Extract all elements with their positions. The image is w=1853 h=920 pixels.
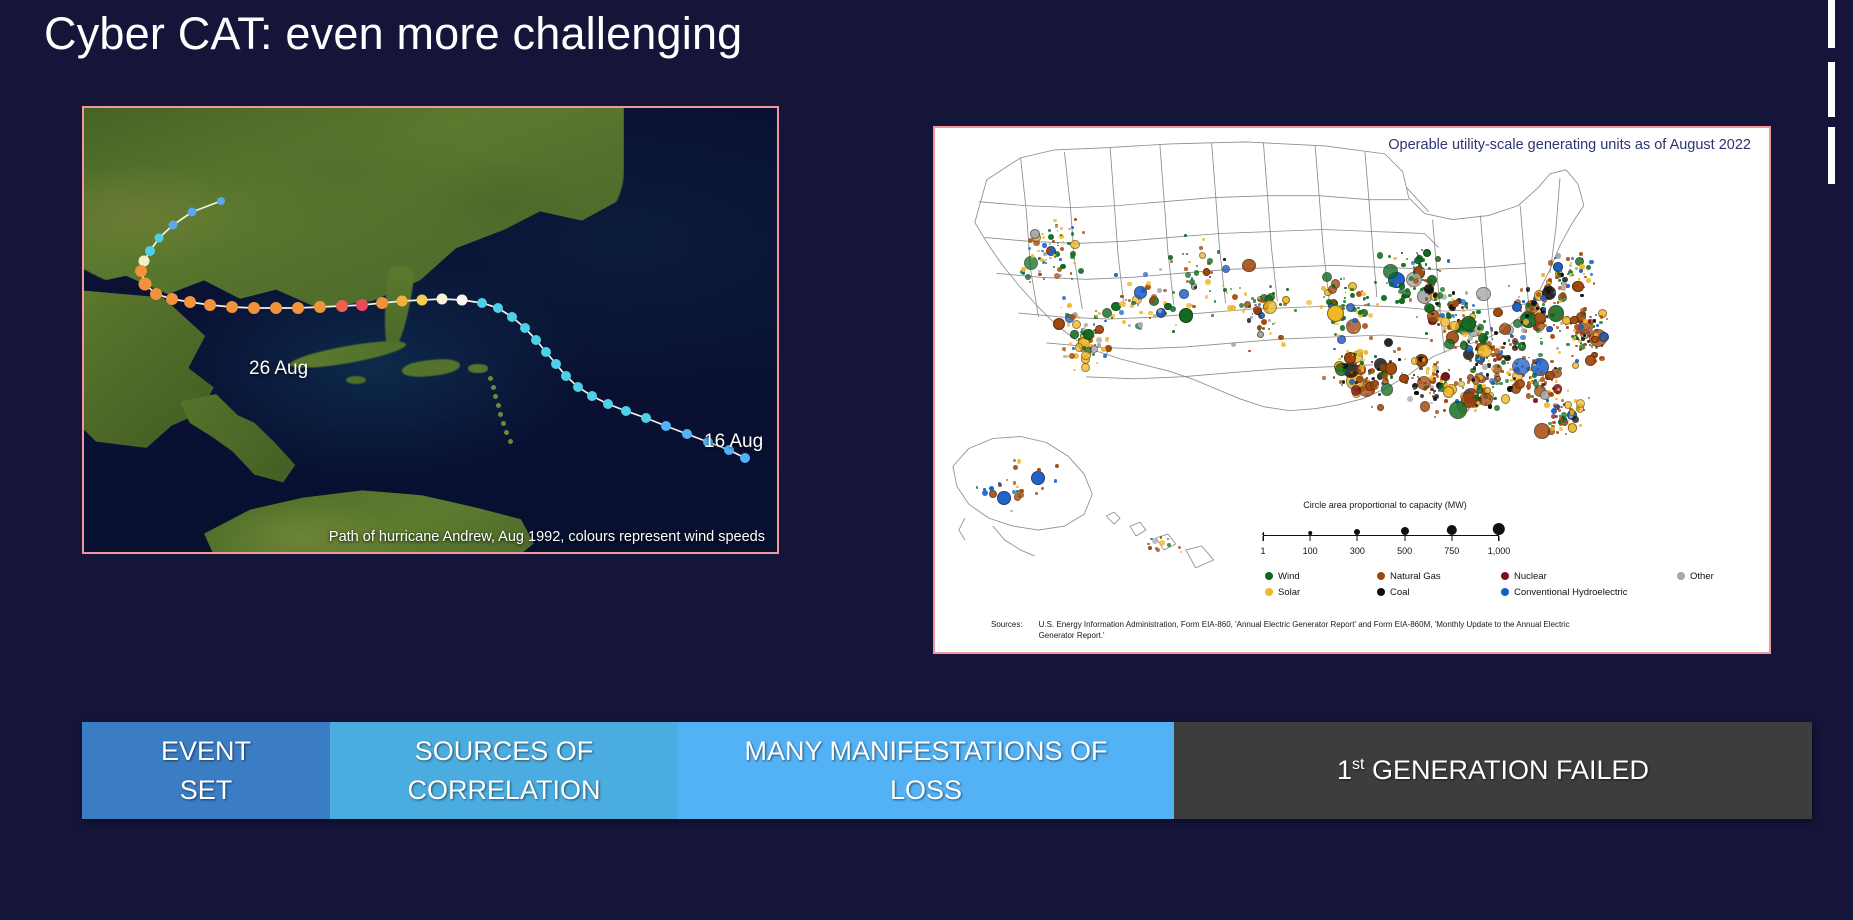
size-legend-dot <box>1493 523 1505 535</box>
generator-dot <box>1148 546 1152 550</box>
track-point <box>740 453 750 463</box>
generator-dot <box>1404 358 1406 360</box>
eia-generating-units-panel[interactable]: Operable utility-scale generating units … <box>933 126 1771 654</box>
generator-dot <box>1207 258 1213 264</box>
legend-swatch-icon <box>1265 572 1273 580</box>
generator-dot <box>1414 391 1419 396</box>
generator-dot <box>1230 288 1232 290</box>
banner-segment-2[interactable]: MANY MANIFESTATIONS OFLOSS <box>678 722 1174 819</box>
generator-dot <box>1482 364 1488 370</box>
banner-segment-3[interactable]: 1st GENERATION FAILED <box>1174 722 1812 819</box>
generator-dot <box>1179 289 1189 299</box>
generator-dot <box>1345 292 1347 294</box>
generator-dot <box>1355 330 1357 332</box>
generator-dot <box>1168 255 1173 260</box>
generator-dot <box>1260 299 1264 303</box>
track-point <box>531 335 541 345</box>
generator-dot <box>1149 317 1151 319</box>
generator-dot <box>1159 268 1162 271</box>
legend-label: Other <box>1690 571 1714 582</box>
generator-dot <box>1223 258 1226 261</box>
generator-dot <box>1559 417 1563 421</box>
generator-dot <box>1122 320 1126 324</box>
generator-dot <box>1131 301 1136 306</box>
legend-item-natural-gas: Natural Gas <box>1377 568 1501 584</box>
generator-dot <box>1435 410 1439 414</box>
generator-dot <box>1386 282 1388 284</box>
generator-dot <box>1572 416 1578 422</box>
generator-dot <box>1265 308 1267 310</box>
generator-dot <box>1146 281 1151 286</box>
generator-dot <box>1041 233 1043 235</box>
generator-dot <box>1550 309 1554 313</box>
size-legend-tick <box>1310 536 1311 541</box>
generator-dot <box>1268 328 1270 330</box>
generator-dot <box>1341 355 1343 357</box>
generator-dot <box>1393 350 1396 353</box>
generator-dot <box>1157 288 1162 293</box>
generator-dot <box>1423 249 1432 258</box>
generator-dot <box>1533 364 1535 366</box>
track-point <box>292 302 304 314</box>
generator-dot <box>1520 288 1523 291</box>
legend-item-wind: Wind <box>1265 568 1377 584</box>
generator-dot <box>1232 294 1238 300</box>
generator-dot <box>1553 324 1555 326</box>
generator-dot <box>1566 343 1570 347</box>
track-point <box>166 293 178 305</box>
generator-dot <box>1445 321 1448 324</box>
generator-dot <box>1570 262 1572 264</box>
generator-dot <box>1520 310 1522 312</box>
size-legend-tick-label: 100 <box>1303 546 1318 556</box>
generator-dot <box>1067 323 1070 326</box>
generator-dot <box>1434 394 1439 399</box>
process-banner: EVENTSETSOURCES OFCORRELATIONMANY MANIFE… <box>82 722 1812 819</box>
generator-dot <box>1474 334 1477 337</box>
generator-dot <box>1205 295 1208 298</box>
size-legend-axis <box>1263 535 1499 543</box>
generator-dot <box>1159 540 1165 546</box>
generator-dot <box>1476 310 1481 315</box>
generator-dot <box>1419 367 1422 370</box>
generator-dot <box>1073 262 1076 265</box>
generator-dot <box>1561 399 1565 403</box>
generator-dot <box>1548 278 1552 282</box>
generator-dot <box>1096 362 1098 364</box>
generator-dot <box>1432 365 1436 369</box>
generator-dot <box>1060 307 1062 309</box>
track-point <box>184 296 196 308</box>
generator-dot <box>1006 479 1008 481</box>
generator-dot <box>1493 397 1497 401</box>
generator-dot <box>1242 259 1256 273</box>
generator-dot <box>1320 305 1323 308</box>
generator-dot <box>1424 284 1434 294</box>
generator-dot <box>1506 371 1510 375</box>
generator-dot <box>1095 310 1097 312</box>
generator-dot <box>1491 329 1494 332</box>
generator-dot <box>1526 287 1530 291</box>
track-point <box>336 300 348 312</box>
generator-dot <box>1030 229 1040 239</box>
track-point <box>397 296 408 307</box>
hurricane-map-caption: Path of hurricane Andrew, Aug 1992, colo… <box>329 529 765 545</box>
generator-dot <box>1018 492 1023 497</box>
generator-dot <box>1505 379 1509 383</box>
generator-dot <box>1393 257 1397 261</box>
generator-dot <box>1143 272 1148 277</box>
generator-dot <box>1021 267 1026 272</box>
hurricane-date-label: 26 Aug <box>249 358 308 380</box>
size-legend-tick-label: 300 <box>1350 546 1365 556</box>
generator-dot <box>1070 240 1080 250</box>
generator-dot <box>1556 347 1559 350</box>
generator-dot <box>1407 396 1413 402</box>
generator-dot <box>1424 386 1427 389</box>
track-point <box>248 302 260 314</box>
generator-dot <box>1443 330 1446 333</box>
legend-label: Conventional Hydroelectric <box>1514 587 1628 598</box>
generator-dot <box>1203 268 1210 275</box>
generator-dot <box>1568 423 1577 432</box>
generator-dot <box>1401 263 1405 267</box>
hurricane-track-line <box>84 108 777 552</box>
generator-dot <box>1268 319 1271 322</box>
generator-dot <box>1186 303 1192 309</box>
generator-dot <box>1012 490 1016 494</box>
generator-dot <box>1564 417 1567 420</box>
generator-dot <box>1025 274 1031 280</box>
generator-dot <box>1343 300 1346 303</box>
generator-dot <box>1507 362 1510 365</box>
generator-dot <box>1231 342 1236 347</box>
track-point <box>135 265 147 277</box>
generator-dot <box>1494 405 1500 411</box>
generator-dot <box>1369 368 1375 374</box>
generator-dot <box>1057 242 1059 244</box>
generator-dot <box>1462 332 1467 337</box>
generator-dot <box>1509 343 1512 346</box>
generator-dot <box>1515 379 1525 389</box>
generator-dot <box>1048 234 1054 240</box>
generator-dot <box>1540 341 1543 344</box>
generator-dot <box>1013 465 1018 470</box>
generator-dot <box>1508 339 1510 341</box>
generator-dot <box>1119 310 1123 314</box>
generator-dot <box>1550 360 1554 364</box>
generator-dot <box>1398 358 1401 361</box>
generator-dot <box>1248 350 1251 353</box>
size-legend-tick-labels: 11003005007501,000 <box>1235 546 1535 560</box>
generator-dot <box>1038 273 1041 276</box>
generator-dot <box>1465 291 1468 294</box>
generator-dot <box>1184 267 1188 271</box>
generator-dot <box>1083 329 1094 340</box>
generator-dot <box>1186 253 1188 255</box>
size-legend-tick-label: 750 <box>1444 546 1459 556</box>
generator-dot <box>1477 344 1491 358</box>
generator-dot <box>1333 348 1335 350</box>
generator-dot <box>1474 393 1476 395</box>
generator-dot <box>1554 403 1556 405</box>
generator-dot <box>1583 273 1585 275</box>
generator-dot <box>1230 305 1236 311</box>
track-point <box>204 299 216 311</box>
generator-dot <box>1070 255 1074 259</box>
generator-dot <box>1491 348 1494 351</box>
generator-dot <box>1105 345 1111 351</box>
banner-segment-label: MANY MANIFESTATIONS OFLOSS <box>744 732 1107 809</box>
generator-dot <box>1540 330 1542 332</box>
generator-dot <box>1581 337 1585 341</box>
generator-dot <box>1013 459 1016 462</box>
generator-dot <box>1479 393 1492 406</box>
generator-dot <box>1333 376 1335 378</box>
generator-dot <box>1482 384 1486 388</box>
generator-dot <box>1501 346 1505 350</box>
legend-swatch-icon <box>1377 572 1385 580</box>
generator-dot <box>1477 398 1480 401</box>
banner-segment-0[interactable]: EVENTSET <box>82 722 330 819</box>
generator-dot <box>1353 353 1357 357</box>
generator-dot <box>1167 538 1169 540</box>
generator-dot <box>1042 236 1045 239</box>
generator-dot <box>1472 378 1475 381</box>
legend-item-coal: Coal <box>1377 584 1501 600</box>
generator-dot <box>1322 272 1332 282</box>
generator-dot <box>1361 290 1363 292</box>
banner-segment-1[interactable]: SOURCES OFCORRELATION <box>330 722 678 819</box>
track-point <box>169 221 178 230</box>
generator-dot <box>1137 304 1139 306</box>
generator-dot <box>1552 421 1556 425</box>
generator-dot <box>1138 322 1144 328</box>
generator-dot <box>1035 492 1038 495</box>
generator-dot <box>1420 288 1423 291</box>
generator-dot <box>1425 332 1428 335</box>
legend-swatch-icon <box>1677 572 1685 580</box>
generator-dot <box>1352 318 1357 323</box>
generator-dot <box>1368 313 1373 318</box>
track-point <box>155 234 164 243</box>
generator-dot <box>1473 366 1476 369</box>
generator-dot <box>1576 399 1585 408</box>
generator-dot <box>1540 295 1546 301</box>
generator-dot <box>1167 543 1171 547</box>
generator-dot <box>1057 245 1059 247</box>
hurricane-map-panel[interactable]: 26 Aug16 Aug Path of hurricane Andrew, A… <box>82 106 779 554</box>
generator-dot <box>1579 252 1583 256</box>
generator-dot <box>1361 384 1363 386</box>
size-legend-tick-label: 500 <box>1397 546 1412 556</box>
generator-dot <box>1374 355 1377 358</box>
generator-dot <box>1119 301 1125 307</box>
generator-dot <box>1501 370 1504 373</box>
track-point <box>661 421 671 431</box>
generator-dot <box>1580 294 1584 298</box>
generator-dot <box>1095 315 1098 318</box>
generator-dot <box>1599 356 1604 361</box>
generator-dot <box>1464 304 1468 308</box>
generator-dot <box>1569 409 1575 415</box>
generator-dot <box>1070 272 1072 274</box>
generator-dot <box>1361 368 1364 371</box>
generator-dot <box>1358 349 1364 355</box>
banner-segment-label: EVENTSET <box>161 732 251 809</box>
generator-dot <box>1522 300 1525 303</box>
generator-dot <box>1178 546 1181 549</box>
size-legend-tick-label: 1,000 <box>1488 546 1511 556</box>
legend-swatch-icon <box>1501 588 1509 596</box>
size-legend-title: Circle area proportional to capacity (MW… <box>1235 500 1535 510</box>
generator-dot <box>1429 392 1431 394</box>
generator-dot <box>1222 265 1230 273</box>
generator-dot <box>1416 316 1419 319</box>
generator-dot <box>1476 287 1491 302</box>
generator-dot <box>1180 551 1182 553</box>
generator-dot <box>1440 313 1445 318</box>
generator-dot <box>1411 377 1414 380</box>
generator-dot <box>1501 360 1506 365</box>
generator-dot <box>1084 323 1088 327</box>
generator-dot <box>1534 423 1549 438</box>
generator-dot <box>1435 256 1441 262</box>
generator-dot <box>1425 263 1427 265</box>
generator-dot <box>1175 324 1178 327</box>
track-point <box>641 413 651 423</box>
generator-dot <box>1588 397 1590 399</box>
generator-dot <box>1381 383 1394 396</box>
generator-dot <box>1462 309 1465 312</box>
generator-dot <box>1153 314 1157 318</box>
generator-dot <box>1349 379 1355 385</box>
generator-dot <box>1579 269 1583 273</box>
generator-dot <box>1566 286 1568 288</box>
generator-dot <box>1081 351 1090 360</box>
generator-dot <box>1355 381 1358 384</box>
generator-dot <box>1409 276 1414 281</box>
generator-dot <box>1377 385 1380 388</box>
generator-dot <box>1052 240 1055 243</box>
track-point <box>551 359 561 369</box>
generator-dot <box>1575 267 1578 270</box>
generator-dot <box>1257 331 1264 338</box>
generator-dot <box>1071 232 1075 236</box>
generator-dot <box>1452 291 1456 295</box>
generator-dot <box>1222 285 1224 287</box>
generator-dot <box>1574 336 1576 338</box>
edge-dash-icon <box>1828 0 1835 48</box>
generator-dot <box>1474 409 1477 412</box>
generator-dot <box>1534 379 1537 382</box>
generator-dot <box>1431 313 1434 316</box>
size-legend-tick <box>1451 536 1452 541</box>
generator-dot <box>1477 384 1482 389</box>
banner-segment-label: SOURCES OFCORRELATION <box>407 732 600 809</box>
generator-dot <box>1593 319 1596 322</box>
track-point <box>520 323 530 333</box>
generator-dot <box>1397 347 1401 351</box>
generator-dot <box>1455 314 1457 316</box>
legend-label: Nuclear <box>1514 571 1547 582</box>
generator-dot <box>1071 226 1074 229</box>
generator-dot <box>1278 335 1284 341</box>
size-legend-dots <box>1235 517 1535 535</box>
legend-label: Wind <box>1278 571 1300 582</box>
generator-dot <box>1550 334 1556 340</box>
track-point <box>603 399 613 409</box>
generator-dot <box>1559 427 1563 431</box>
edge-dash-icon <box>1828 62 1835 117</box>
generator-dot <box>1551 408 1557 414</box>
generator-dot <box>1010 510 1012 512</box>
generator-dot <box>1406 258 1408 260</box>
generator-dot <box>1528 357 1530 359</box>
generator-dot <box>1460 299 1466 305</box>
generator-dot <box>1437 292 1443 298</box>
generator-dot <box>1170 260 1173 263</box>
generator-dot <box>1590 273 1593 276</box>
generator-dot <box>1134 286 1147 299</box>
track-point <box>139 278 152 291</box>
generator-dot <box>1086 343 1090 347</box>
generator-dot <box>1210 271 1213 274</box>
legend-label: Coal <box>1390 587 1410 598</box>
legend-item-conventional-hydroelectric: Conventional Hydroelectric <box>1501 584 1677 600</box>
generator-dot <box>1558 367 1562 371</box>
generator-dot <box>1593 282 1596 285</box>
generator-dot <box>1454 346 1457 349</box>
generator-dot <box>1472 304 1475 307</box>
generator-dot <box>1540 338 1542 340</box>
generator-dot <box>1550 313 1555 318</box>
generator-dot <box>1430 402 1432 404</box>
generator-dot <box>1572 281 1584 293</box>
track-point <box>188 208 197 217</box>
generator-dot <box>1438 309 1442 313</box>
generator-dot <box>1155 547 1157 549</box>
generator-dot <box>1390 375 1393 378</box>
generator-dot <box>1553 262 1562 271</box>
legend-swatch-icon <box>1501 572 1509 580</box>
generator-dot <box>1542 374 1545 377</box>
generator-dot <box>1606 318 1608 320</box>
track-point <box>573 382 583 392</box>
generator-dot <box>1377 404 1383 410</box>
generator-dot <box>1491 367 1494 370</box>
generator-dot <box>1281 342 1286 347</box>
generator-dot <box>1595 314 1597 316</box>
generator-dot <box>1492 338 1494 340</box>
generator-dot <box>1546 326 1553 333</box>
generator-dot <box>1589 260 1593 264</box>
generator-dot <box>1443 409 1446 412</box>
generator-dot <box>1226 292 1228 294</box>
generator-dot <box>1104 320 1106 322</box>
axis-endcap <box>1498 532 1499 541</box>
generator-dot <box>1497 353 1500 356</box>
generator-dot <box>1510 386 1513 389</box>
generator-dot <box>1434 416 1436 418</box>
generator-dot <box>1127 282 1131 286</box>
generator-dot <box>1550 373 1552 375</box>
generator-dot <box>1024 256 1038 270</box>
generator-dot <box>1093 323 1096 326</box>
generator-dot <box>1536 329 1540 333</box>
generator-dot <box>1037 468 1041 472</box>
generator-dot <box>1053 318 1065 330</box>
